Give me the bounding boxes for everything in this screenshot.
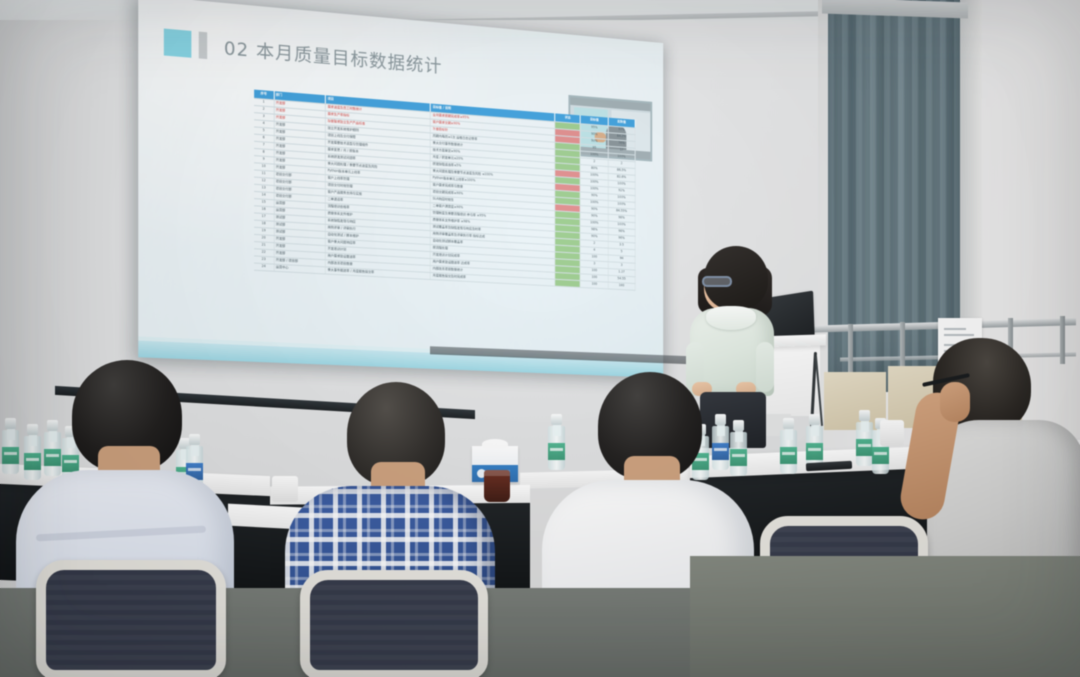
presenter-collar <box>706 306 756 330</box>
cell-no: 11 <box>254 170 274 177</box>
presenter-glasses-icon <box>702 276 732 287</box>
chair-left-1[interactable] <box>36 560 226 677</box>
cell-no: 13 <box>254 185 274 192</box>
cell-no: 12 <box>254 178 274 185</box>
cell-status <box>555 280 581 287</box>
cell-no: 16 <box>254 206 274 213</box>
slide-number: 02 <box>224 38 249 61</box>
cell-no: 22 <box>254 249 274 256</box>
water-bottle[interactable] <box>856 410 873 466</box>
sign-text-line-2 <box>944 334 974 336</box>
chair-left-2[interactable] <box>300 570 488 677</box>
shirt-fold <box>36 526 206 542</box>
paper-cup[interactable] <box>880 420 904 446</box>
slide-accent-square-icon <box>164 29 192 58</box>
slide-data-table: 序号 部门 项目 目标值 / 说明 状态 目标值 实际值 1开发部需求进度及员工… <box>254 90 636 291</box>
cell-actual: 100 <box>608 283 635 290</box>
slide-canvas: 02 本月质量目标数据统计 序号 部门 项目 目标值 / 说明 <box>138 0 663 378</box>
cell-no: 19 <box>254 228 274 235</box>
cell-no: 24 <box>254 264 274 271</box>
cell-no: 17 <box>254 213 274 220</box>
cell-no: 23 <box>254 256 274 263</box>
sign-text-line-1 <box>944 328 966 330</box>
water-bottle[interactable] <box>780 418 797 474</box>
chair-mesh-back <box>300 570 488 677</box>
cell-no: 14 <box>254 192 274 199</box>
chair-mesh-back <box>36 560 226 677</box>
cell-target: 100 <box>581 281 608 288</box>
meeting-room-photo: 02 本月质量目标数据统计 序号 部门 项目 目标值 / 说明 <box>0 0 1080 677</box>
presenter-arm-right <box>756 342 774 392</box>
cell-no: 21 <box>254 242 274 249</box>
table-body: 1开发部需求进度及员工时数统计全月需求按期完成率≥95%95%97%2开发部需求… <box>254 99 636 291</box>
floor-carpet-right <box>690 556 1080 677</box>
cell-no: 18 <box>254 221 274 228</box>
cell-no: 20 <box>254 235 274 242</box>
cell-no: 15 <box>254 199 274 206</box>
attendee-4-hand <box>940 382 970 422</box>
slide-accent-bar-icon <box>199 32 207 60</box>
col-header-no: 序号 <box>254 90 274 100</box>
projection-screen: 02 本月质量目标数据统计 序号 部门 项目 目标值 / 说明 <box>138 0 663 378</box>
